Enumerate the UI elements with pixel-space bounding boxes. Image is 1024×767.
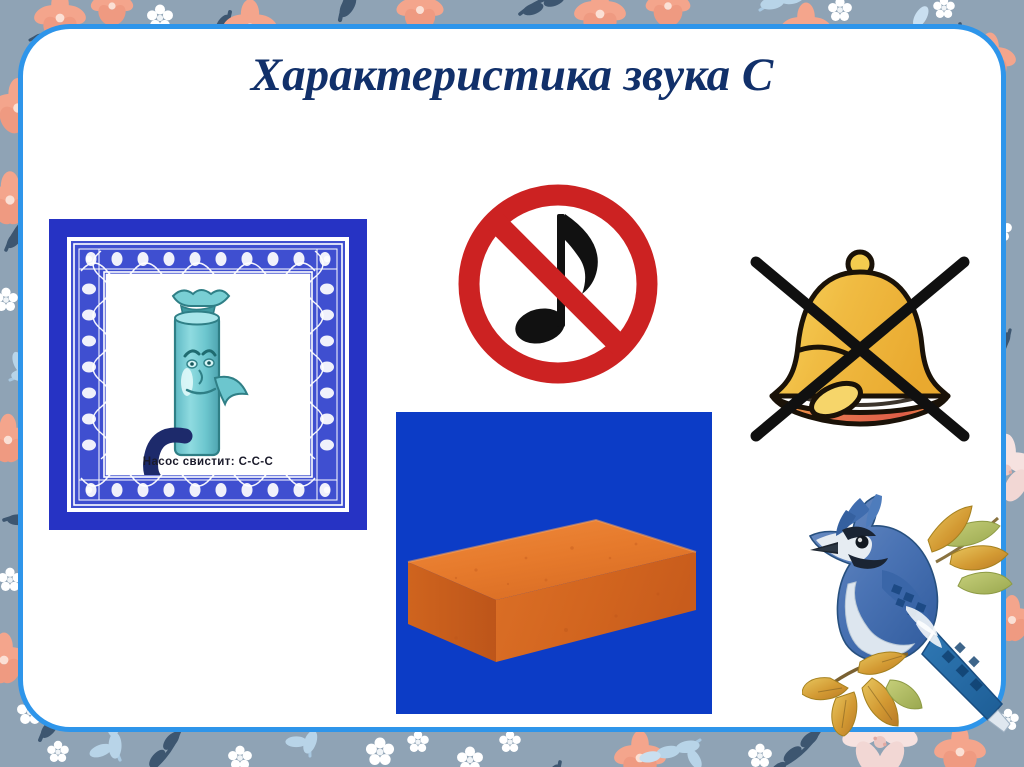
no-music-icon: [448, 178, 668, 390]
blue-jay-bird: [802, 492, 1014, 737]
pump-whistles-card: Насос свистит: С-С-С: [49, 219, 367, 530]
pump-caption: Насос свистит: С-С-С: [49, 456, 367, 468]
page-title: Характеристика звука С: [0, 48, 1024, 102]
crossed-out-bell-icon: [740, 240, 980, 450]
pump-character-illustration: [107, 274, 309, 475]
brick-photo: [396, 412, 712, 714]
